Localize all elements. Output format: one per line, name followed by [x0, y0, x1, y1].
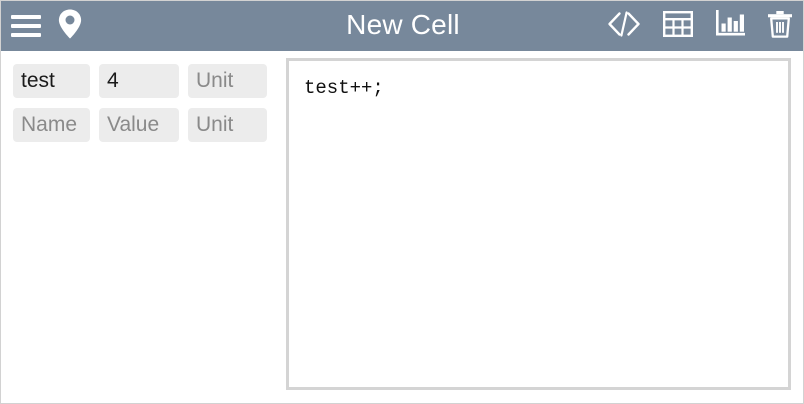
- location-pin-icon[interactable]: [58, 9, 82, 44]
- table-view-icon[interactable]: [663, 11, 693, 42]
- variables-panel: [1, 51, 276, 404]
- menu-icon[interactable]: [11, 15, 41, 37]
- variable-value-input[interactable]: [99, 108, 179, 142]
- code-editor[interactable]: test++;: [286, 58, 791, 390]
- code-editor-text[interactable]: test++;: [289, 61, 788, 361]
- variable-row: [13, 108, 267, 142]
- variable-value-input[interactable]: [99, 64, 179, 98]
- chart-view-icon[interactable]: [715, 10, 745, 42]
- variable-name-input[interactable]: [13, 108, 90, 142]
- title-bar: New Cell: [1, 1, 804, 51]
- menu-icon-bar: [11, 15, 41, 19]
- delete-cell-icon[interactable]: [767, 10, 793, 43]
- variable-unit-input[interactable]: [188, 64, 267, 98]
- cell-body: test++;: [1, 51, 804, 404]
- code-view-icon[interactable]: [607, 11, 641, 42]
- variable-name-input[interactable]: [13, 64, 90, 98]
- title-bar-left-icons: [11, 1, 82, 51]
- cell-editor-window: New Cell: [0, 0, 804, 404]
- variable-row: [13, 64, 267, 98]
- menu-icon-bar: [11, 33, 41, 37]
- variable-unit-input[interactable]: [188, 108, 267, 142]
- menu-icon-bar: [11, 24, 41, 28]
- title-bar-right-icons: [607, 1, 793, 51]
